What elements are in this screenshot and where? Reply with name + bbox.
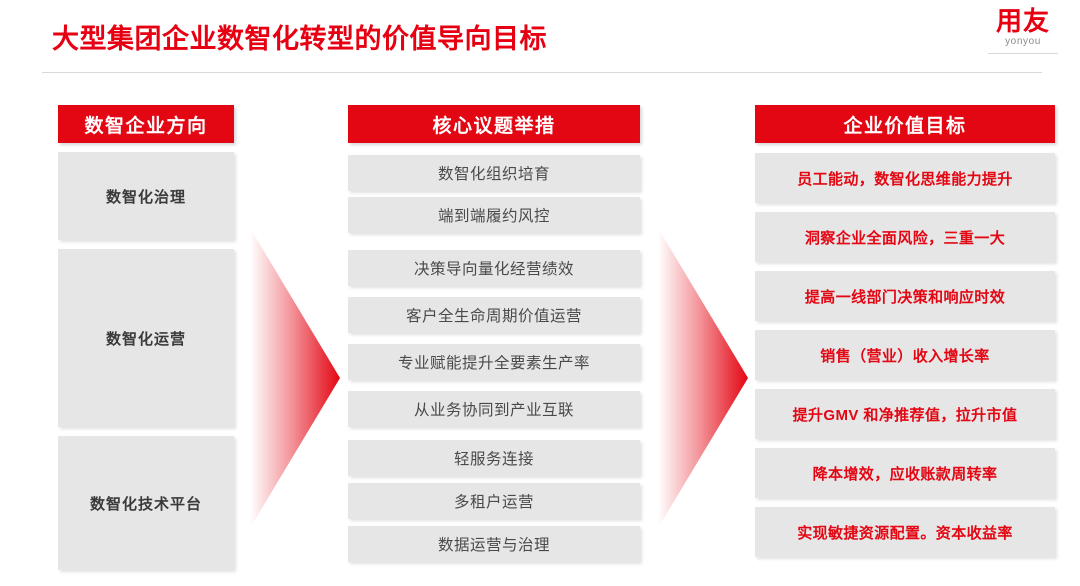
flow-arrow-middle-to-right <box>658 228 748 528</box>
direction-card-operations[interactable]: 数智化运营 <box>58 249 234 427</box>
direction-card-tech-platform[interactable]: 数智化技术平台 <box>58 436 234 570</box>
page-title: 大型集团企业数智化转型的价值导向目标 <box>52 17 547 56</box>
topic-card-e2e-risk-control[interactable]: 端到端履约风控 <box>348 197 640 233</box>
value-card-gmv-nps[interactable]: 提升GMV 和净推荐值，拉升市值 <box>755 389 1055 439</box>
direction-card-governance[interactable]: 数智化治理 <box>58 152 234 240</box>
slide-canvas: 大型集团企业数智化转型的价值导向目标 用友 yonyou 数智企业方向 核心议题… <box>0 0 1080 586</box>
logo-divider <box>988 53 1058 54</box>
topic-card-light-service[interactable]: 轻服务连接 <box>348 440 640 476</box>
column-header-value-goals: 企业价值目标 <box>755 105 1055 143</box>
value-card-frontline-decision[interactable]: 提高一线部门决策和响应时效 <box>755 271 1055 321</box>
value-card-cost-efficiency[interactable]: 降本增效，应收账款周转率 <box>755 448 1055 498</box>
topic-card-industry-connect[interactable]: 从业务协同到产业互联 <box>348 391 640 427</box>
value-card-risk-insight[interactable]: 洞察企业全面风险，三重一大 <box>755 212 1055 262</box>
yonyou-logo: 用友 yonyou <box>988 8 1058 54</box>
logo-latin-text: yonyou <box>988 36 1058 47</box>
topic-card-data-governance[interactable]: 数据运营与治理 <box>348 526 640 562</box>
value-card-capital-return[interactable]: 实现敏捷资源配置。资本收益率 <box>755 507 1055 557</box>
column-header-topics: 核心议题举措 <box>348 105 640 143</box>
topic-card-productivity[interactable]: 专业赋能提升全要素生产率 <box>348 344 640 380</box>
topic-card-customer-lifecycle[interactable]: 客户全生命周期价值运营 <box>348 297 640 333</box>
topic-card-decision-performance[interactable]: 决策导向量化经营绩效 <box>348 250 640 286</box>
logo-chinese-text: 用友 <box>988 8 1058 35</box>
title-divider <box>42 72 1042 73</box>
column-header-direction: 数智企业方向 <box>58 105 234 143</box>
topic-card-org-cultivation[interactable]: 数智化组织培育 <box>348 155 640 191</box>
value-card-employee-capability[interactable]: 员工能动，数智化思维能力提升 <box>755 153 1055 203</box>
value-card-revenue-growth[interactable]: 销售（营业）收入增长率 <box>755 330 1055 380</box>
topic-card-multi-tenant[interactable]: 多租户运营 <box>348 483 640 519</box>
flow-arrow-left-to-middle <box>250 228 340 528</box>
